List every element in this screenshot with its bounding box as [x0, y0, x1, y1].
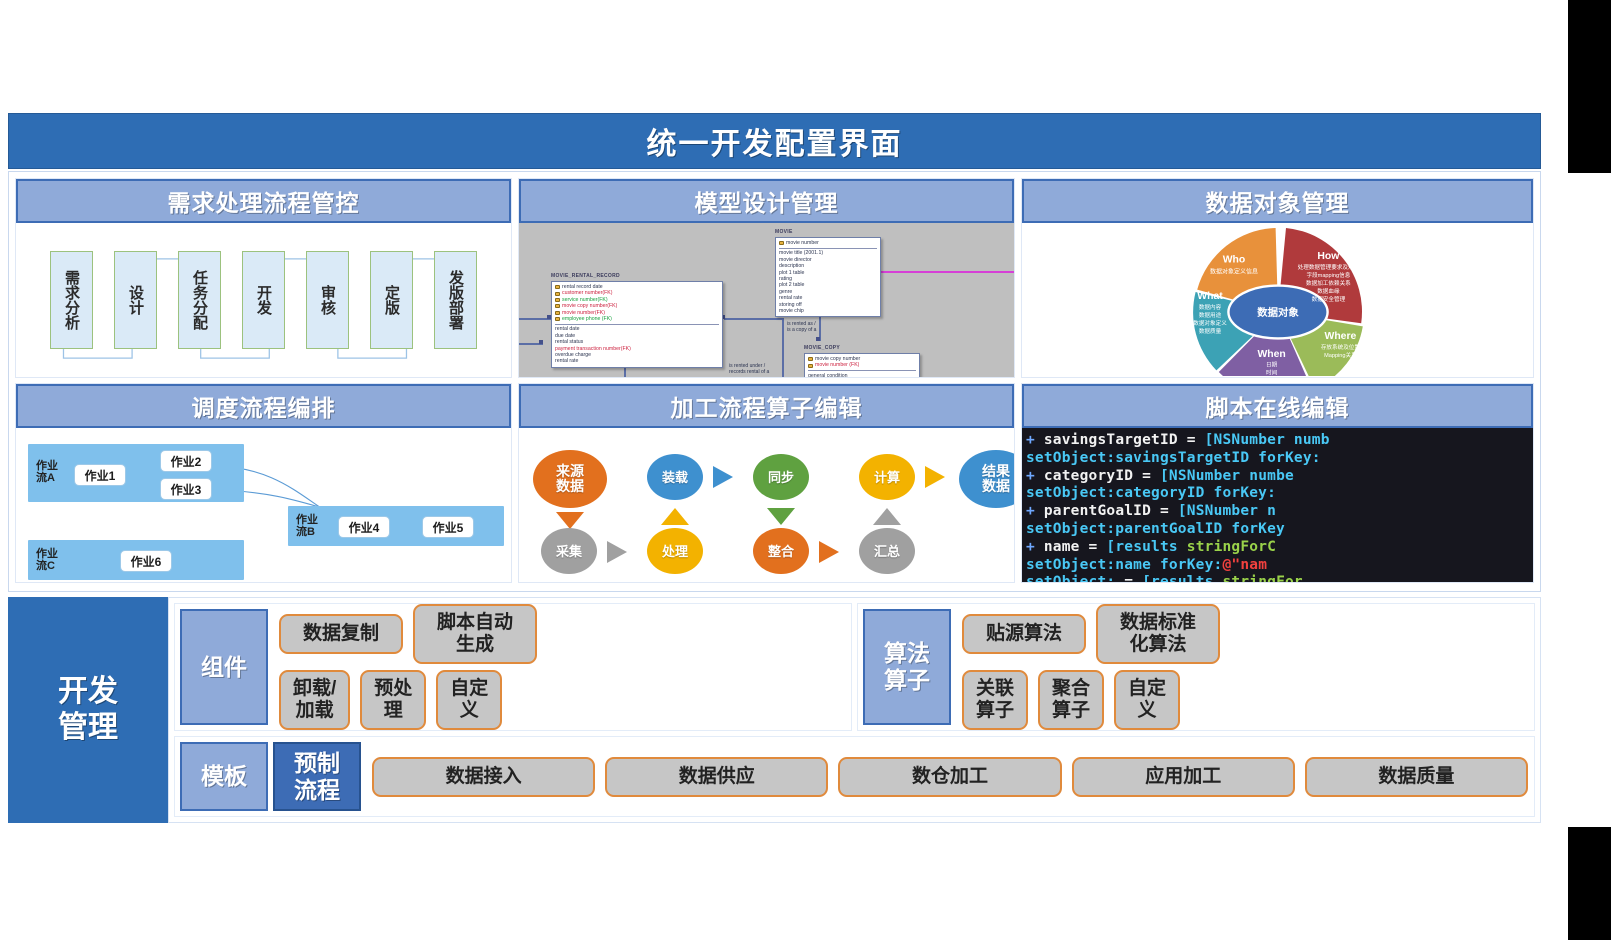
panel-header-script-editor: 脚本在线编辑: [1022, 384, 1533, 428]
panel-data-object[interactable]: 数据对象管理: [1021, 178, 1534, 378]
er-relationship-note: is rented as / is a copy of a: [787, 321, 816, 333]
category-tile-components[interactable]: 组件: [180, 609, 268, 725]
er-field-list: movie title (2001.1) movie director desc…: [779, 250, 877, 314]
job-node[interactable]: 作业4: [338, 516, 390, 538]
requirement-step-label: 发版部署: [448, 270, 463, 330]
wheel-label-what-title: What: [1197, 291, 1223, 302]
code-line: setObject:name forKey:@"nam: [1026, 557, 1533, 575]
lane-label-b: 作业 流B: [296, 514, 318, 538]
chip-warehouse-processing[interactable]: 数仓加工: [838, 757, 1061, 797]
chip-row: 卸载/ 加载 预处 理 自定 义: [279, 670, 845, 730]
dev-group-components: 组件 数据复制 脚本自动 生成 卸载/ 加载 预处 理 自定 义: [174, 603, 852, 731]
requirement-step-label: 开发: [256, 285, 271, 315]
chip-preprocess[interactable]: 预处 理: [360, 670, 426, 730]
panel-body-data-object: 数据对象 Who 数据对象定义信息 How 处理数据管理要求及规范 字段mapp…: [1022, 223, 1533, 377]
data-object-wheel: 数据对象 Who 数据对象定义信息 How 处理数据管理要求及规范 字段mapp…: [1022, 223, 1533, 377]
arrow-down-icon: [767, 508, 795, 525]
dev-management-side-tile[interactable]: 开发 管理: [8, 597, 168, 823]
chip-group-preset-flows: 数据接入 数据供应 数仓加工 应用加工 数据质量: [366, 737, 1534, 816]
arrow-right-icon: [607, 541, 627, 563]
right-edge-band-top: [1568, 0, 1611, 173]
panel-title-scheduling: 调度流程编排: [192, 389, 336, 423]
panel-body-operator-edit: 来源 数据 采集 装载 处理 同步 整合: [519, 428, 1014, 582]
job-node[interactable]: 作业3: [160, 478, 212, 500]
requirement-step[interactable]: 定版: [370, 251, 413, 349]
key-icon: [808, 364, 813, 368]
code-token: =: [1115, 574, 1142, 582]
chip-data-quality[interactable]: 数据质量: [1305, 757, 1528, 797]
chip-group-components: 数据复制 脚本自动 生成 卸载/ 加载 预处 理 自定 义: [273, 604, 851, 730]
dev-group-templates: 模板 预制 流程 数据接入 数据供应 数仓加工 应用加工 数据质量: [174, 736, 1535, 817]
dev-management-content: 组件 数据复制 脚本自动 生成 卸载/ 加载 预处 理 自定 义: [168, 597, 1541, 823]
wheel-label-when-title: When: [1257, 349, 1285, 360]
operator-node-process[interactable]: 处理: [647, 528, 703, 574]
code-editor-surface[interactable]: + savingsTargetID = [NSNumber numbsetObj…: [1022, 428, 1533, 582]
er-table-title: MOVIE_COPY: [804, 345, 840, 351]
code-token: setObject:: [1026, 574, 1115, 582]
lane-label-a: 作业 流A: [36, 460, 58, 484]
er-field: rental rate: [555, 358, 578, 364]
code-token: parentGoalID: [1044, 503, 1151, 519]
dev-group-algorithm-operators: 算法 算子 贴源算法 数据标准 化算法 关联 算子 聚合 算子 自定 义: [857, 603, 1535, 731]
er-table-title: MOVIE: [775, 229, 793, 235]
page-title: 统一开发配置界面: [647, 119, 903, 163]
chip-custom-operator[interactable]: 自定 义: [1114, 670, 1180, 730]
code-token: [results: [1142, 574, 1222, 582]
er-connector: [782, 318, 784, 377]
panel-body-model-design: MOVIE_RENTAL_RECORD rental record date c…: [519, 223, 1014, 377]
data-object-wheel-svg: 数据对象 Who 数据对象定义信息 How 处理数据管理要求及规范 字段mapp…: [1043, 224, 1513, 376]
operator-node-sync[interactable]: 同步: [753, 454, 809, 500]
code-token: [results: [1106, 539, 1186, 555]
chip-unload-load[interactable]: 卸载/ 加载: [279, 670, 350, 730]
code-token: categoryID: [1044, 468, 1133, 484]
wheel-center-label: 数据对象: [1256, 306, 1299, 319]
chip-application-processing[interactable]: 应用加工: [1072, 757, 1295, 797]
panel-model-design[interactable]: 模型设计管理: [518, 178, 1015, 378]
right-edge-band-bottom: [1568, 827, 1611, 940]
right-edge-rule: [1565, 0, 1568, 940]
chip-aggregate-operator[interactable]: 聚合 算子: [1038, 670, 1104, 730]
er-diagram-canvas: MOVIE_RENTAL_RECORD rental record date c…: [519, 223, 1014, 377]
operator-node-result-data[interactable]: 结果 数据: [959, 450, 1014, 508]
operator-canvas: 来源 数据 采集 装载 处理 同步 整合: [519, 428, 1014, 582]
code-token: [NSNumber numbe: [1160, 468, 1294, 484]
job-node[interactable]: 作业6: [120, 550, 172, 572]
panel-body-scheduling: 作业 流A 作业1 作业2 作业3 作业 流B 作业4 作业5 作业 流C: [16, 428, 511, 582]
chip-custom-component[interactable]: 自定 义: [436, 670, 502, 730]
code-line: + parentGoalID = [NSNumber n: [1026, 503, 1533, 521]
key-icon: [555, 311, 560, 315]
chip-data-replication[interactable]: 数据复制: [279, 614, 403, 654]
code-line: setObject:parentGoalID forKey: [1026, 521, 1533, 539]
code-line: setObject:categoryID forKey:: [1026, 485, 1533, 503]
er-divider: [555, 324, 719, 325]
chip-row: 数据接入 数据供应 数仓加工 应用加工 数据质量: [372, 757, 1528, 797]
code-token: stringFor: [1222, 574, 1302, 582]
arrow-right-icon: [925, 466, 945, 488]
requirement-step-label: 任务分配: [192, 270, 207, 330]
panel-script-editor[interactable]: 脚本在线编辑 + savingsTargetID = [NSNumber num…: [1021, 383, 1534, 583]
panel-header-scheduling: 调度流程编排: [16, 384, 511, 428]
er-table-movie[interactable]: movie number movie title (2001.1) movie …: [775, 237, 881, 317]
operator-node-load[interactable]: 装载: [647, 454, 703, 500]
panel-title-requirement-flow: 需求处理流程管控: [168, 184, 360, 218]
development-management-section: 开发 管理 组件 数据复制 脚本自动 生成 卸载/ 加载: [8, 597, 1541, 823]
panel-body-script-editor: + savingsTargetID = [NSNumber numbsetObj…: [1022, 428, 1533, 582]
panel-row-2: 调度流程编排: [15, 383, 1534, 583]
er-field: general condition: [808, 373, 848, 377]
er-endpoint: [816, 337, 820, 341]
key-icon: [555, 285, 560, 289]
code-token: +: [1026, 503, 1044, 519]
arrow-right-icon: [819, 541, 839, 563]
dev-management-label: 开发 管理: [58, 674, 118, 746]
chip-source-algorithm[interactable]: 贴源算法: [962, 614, 1086, 654]
er-key-list: rental record date customer number(FK) s…: [555, 284, 719, 322]
code-line: setObject: = [results stringFor: [1026, 574, 1533, 582]
panel-header-data-object: 数据对象管理: [1022, 179, 1533, 223]
category-tile-algorithm-operators[interactable]: 算法 算子: [863, 609, 951, 725]
main-title-bar: 统一开发配置界面: [8, 113, 1541, 169]
er-connector-magenta: [872, 271, 1014, 273]
code-token: setObject:parentGoalID forKey: [1026, 521, 1285, 537]
er-field: movie number (FK): [815, 362, 859, 368]
panel-title-data-object: 数据对象管理: [1206, 184, 1350, 218]
er-field: movie chip: [779, 308, 804, 314]
er-table-movie-copy[interactable]: movie copy number movie number (FK) gene…: [804, 353, 920, 377]
code-token: stringForC: [1187, 539, 1276, 555]
requirement-step[interactable]: 设计: [114, 251, 157, 349]
requirement-step-label: 需求分析: [64, 270, 79, 330]
slide-canvas: 统一开发配置界面 需求处理流程管控: [0, 0, 1611, 940]
panel-title-script-editor: 脚本在线编辑: [1206, 389, 1350, 423]
arrow-up-icon: [661, 508, 689, 525]
key-icon: [555, 317, 560, 321]
wheel-label-who-title: Who: [1222, 254, 1245, 265]
code-token: setObject:categoryID forKey:: [1026, 485, 1276, 501]
panel-title-operator-edit: 加工流程算子编辑: [671, 389, 863, 423]
wheel-label-when-line: 日期: [1265, 361, 1277, 368]
panel-header-requirement-flow: 需求处理流程管控: [16, 179, 511, 223]
requirement-flow-canvas: 需求分析 设计 任务分配 开发 审核 定版 发版部署: [16, 223, 511, 377]
requirement-step[interactable]: 发版部署: [434, 251, 477, 349]
code-line: + savingsTargetID = [NSNumber numb: [1026, 432, 1533, 450]
code-line: setObject:savingsTargetID forKey:: [1026, 450, 1533, 468]
code-token: setObject:name forKey:: [1026, 557, 1222, 573]
code-token: [NSNumber n: [1178, 503, 1276, 519]
requirement-step[interactable]: 任务分配: [178, 251, 221, 349]
code-token: =: [1151, 503, 1178, 519]
dev-row-components: 组件 数据复制 脚本自动 生成 卸载/ 加载 预处 理 自定 义: [174, 603, 1535, 731]
chip-standardization-algorithm[interactable]: 数据标准 化算法: [1096, 604, 1220, 664]
panel-requirement-flow[interactable]: 需求处理流程管控: [15, 178, 512, 378]
wheel-label-how-title: How: [1317, 251, 1340, 262]
requirement-step[interactable]: 需求分析: [50, 251, 93, 349]
job-node[interactable]: 作业5: [422, 516, 474, 538]
er-endpoint: [539, 340, 543, 344]
scheduling-canvas: 作业 流A 作业1 作业2 作业3 作业 流B 作业4 作业5 作业 流C: [16, 428, 511, 582]
panel-row-1: 需求处理流程管控: [15, 178, 1534, 378]
job-node[interactable]: 作业1: [74, 464, 126, 486]
category-tile-preset-flow[interactable]: 预制 流程: [273, 742, 361, 811]
er-divider: [779, 248, 877, 249]
code-token: [NSNumber numb: [1205, 432, 1330, 448]
requirement-step[interactable]: 开发: [242, 251, 285, 349]
arrow-up-icon: [873, 508, 901, 525]
chip-data-ingestion[interactable]: 数据接入: [372, 757, 595, 797]
key-icon: [555, 304, 560, 308]
upper-panels-frame: 需求处理流程管控: [8, 171, 1541, 592]
er-table-movie-rental-record[interactable]: rental record date customer number(FK) s…: [551, 281, 723, 368]
code-line: + name = [results stringForC: [1026, 539, 1533, 557]
code-token: setObject:savingsTargetID forKey:: [1026, 450, 1321, 466]
code-token: @"nam: [1222, 557, 1267, 573]
panel-header-operator-edit: 加工流程算子编辑: [519, 384, 1014, 428]
dev-row-templates: 模板 预制 流程 数据接入 数据供应 数仓加工 应用加工 数据质量: [174, 736, 1535, 817]
requirement-step-label: 设计: [128, 285, 143, 315]
requirement-step[interactable]: 审核: [306, 251, 349, 349]
code-token: +: [1026, 432, 1044, 448]
chip-script-autogen[interactable]: 脚本自动 生成: [413, 604, 537, 664]
operator-node-compute[interactable]: 计算: [859, 454, 915, 500]
code-token: +: [1026, 539, 1044, 555]
chip-data-supply[interactable]: 数据供应: [605, 757, 828, 797]
code-token: =: [1133, 468, 1160, 484]
key-icon: [779, 241, 784, 245]
code-token: name: [1044, 539, 1080, 555]
operator-node-aggregate[interactable]: 汇总: [859, 528, 915, 574]
code-token: savingsTargetID: [1044, 432, 1178, 448]
key-icon: [555, 292, 560, 296]
er-relationship-note: is rented under / records rental of a: [729, 363, 769, 375]
chip-row: 关联 算子 聚合 算子 自定 义: [962, 670, 1528, 730]
chip-row: 贴源算法 数据标准 化算法: [962, 604, 1528, 664]
arrow-right-icon: [713, 466, 733, 488]
er-divider: [808, 370, 916, 371]
panel-title-model-design: 模型设计管理: [695, 184, 839, 218]
code-token: =: [1080, 539, 1107, 555]
key-icon: [808, 357, 813, 361]
code-token: =: [1178, 432, 1205, 448]
diagram-root: 统一开发配置界面 需求处理流程管控: [8, 113, 1541, 823]
chip-row: 数据复制 脚本自动 生成: [279, 604, 845, 664]
operator-node-integrate[interactable]: 整合: [753, 528, 809, 574]
er-connector: [724, 318, 784, 320]
wheel-label-where-title: Where: [1324, 331, 1356, 342]
panel-header-model-design: 模型设计管理: [519, 179, 1014, 223]
panel-scheduling[interactable]: 调度流程编排: [15, 383, 512, 583]
chip-join-operator[interactable]: 关联 算子: [962, 670, 1028, 730]
er-field-list: rental date due date rental status payme…: [555, 326, 719, 364]
panel-operator-edit[interactable]: 加工流程算子编辑 来源 数据 采集 装载 处理 同步: [518, 383, 1015, 583]
category-tile-preset-flow-label: 预制 流程: [294, 750, 340, 804]
er-table-title: MOVIE_RENTAL_RECORD: [551, 273, 620, 279]
operator-node-source-data[interactable]: 来源 数据: [533, 450, 607, 508]
panel-body-requirement-flow: 需求分析 设计 任务分配 开发 审核 定版 发版部署: [16, 223, 511, 377]
job-node[interactable]: 作业2: [160, 450, 212, 472]
requirement-step-list: 需求分析 设计 任务分配 开发 审核 定版 发版部署: [30, 241, 497, 359]
chip-group-algorithm: 贴源算法 数据标准 化算法 关联 算子 聚合 算子 自定 义: [956, 604, 1534, 730]
category-tile-template[interactable]: 模板: [180, 742, 268, 811]
er-field: employee phone (FK): [562, 316, 612, 322]
code-token: +: [1026, 468, 1044, 484]
arrow-down-icon: [556, 512, 584, 529]
er-field: movie number: [786, 240, 819, 246]
lane-label-c: 作业 流C: [36, 548, 58, 572]
requirement-step-label: 定版: [384, 285, 399, 315]
requirement-step-label: 审核: [320, 285, 335, 315]
key-icon: [555, 298, 560, 302]
code-line: + categoryID = [NSNumber numbe: [1026, 468, 1533, 486]
operator-node-collect[interactable]: 采集: [541, 528, 597, 574]
